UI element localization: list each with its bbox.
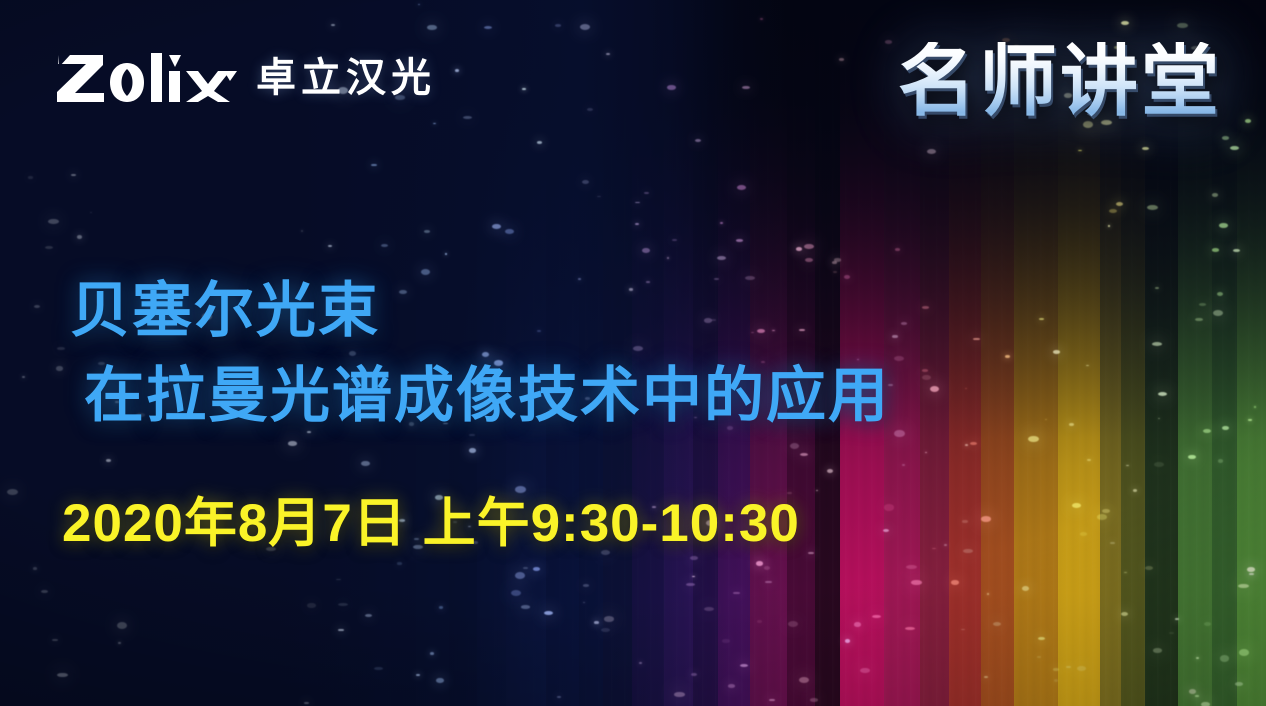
brand-chinese-name: 卓立汉光 [256,58,436,98]
headline-line-1: 贝塞尔光束 [70,268,890,353]
zolix-logo-icon [56,52,238,104]
schedule-datetime: 2020年8月7日 上午9:30-10:30 [62,497,800,550]
banner-content: 卓立汉光 名师讲堂 贝塞尔光束 在拉曼光谱成像技术中的应用 2020年8月7日 … [0,0,1266,706]
headline-line-2: 在拉曼光谱成像技术中的应用 [70,353,890,438]
headline: 贝塞尔光束 在拉曼光谱成像技术中的应用 [70,268,890,438]
brand-logo-lockup: 卓立汉光 [56,52,436,104]
webinar-banner: 卓立汉光 名师讲堂 贝塞尔光束 在拉曼光谱成像技术中的应用 2020年8月7日 … [0,0,1266,706]
series-title: 名师讲堂 [898,42,1222,122]
